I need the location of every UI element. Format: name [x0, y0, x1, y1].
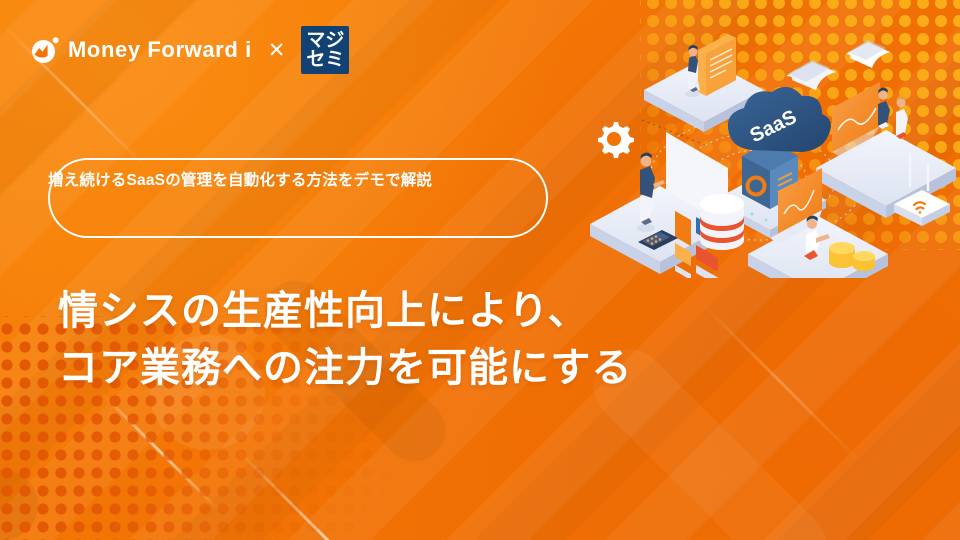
headline-line-2: コア業務への注力を可能にする	[58, 340, 632, 397]
money-forward-wave-icon	[30, 35, 60, 65]
headline-line-1: 情シスの生産性向上により、	[58, 283, 632, 340]
paper-documents	[786, 40, 890, 90]
logo-row: Money Forward i ✕ マジ セミ	[30, 26, 349, 74]
database-cylinder	[700, 194, 744, 250]
person-monitor-2	[896, 95, 908, 139]
gear-icon	[598, 122, 634, 158]
money-forward-wordmark: Money Forward i	[68, 37, 252, 63]
money-forward-logo: Money Forward i	[30, 35, 252, 65]
cross-separator-icon: ✕	[266, 40, 288, 61]
person-monitor-1	[878, 88, 890, 129]
majisemi-logo-line2: セミ	[306, 50, 344, 69]
page-title: 情シスの生産性向上により、 コア業務への注力を可能にする	[58, 283, 632, 397]
isometric-illustration: SaaS	[580, 28, 960, 278]
subtitle-text: 増え続けるSaaSの管理を自動化する方法をデモで解説	[48, 168, 468, 193]
slide-canvas: Money Forward i ✕ マジ セミ 増え続けるSaaSの管理を自動化…	[0, 0, 960, 540]
majisemi-logo: マジ セミ	[301, 26, 349, 74]
